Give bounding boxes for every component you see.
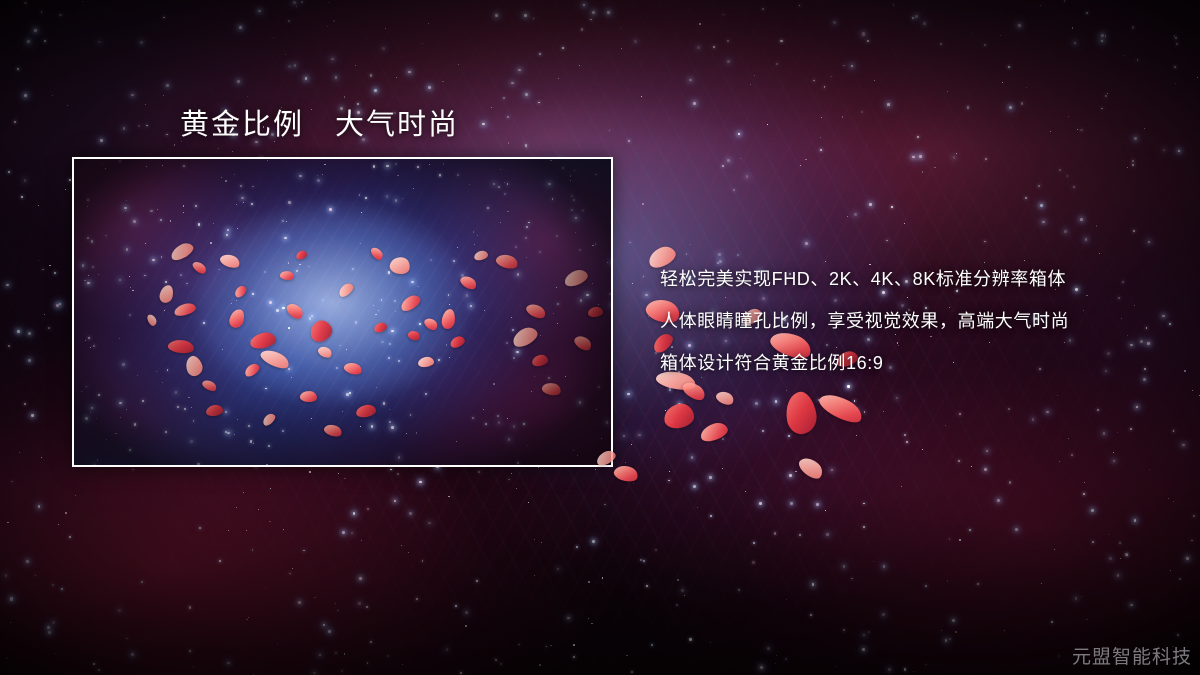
body-line-1: 轻松完美实现FHD、2K、4K、8K标准分辨率箱体	[660, 258, 1180, 300]
star-icon	[593, 466, 595, 467]
page-title: 黄金比例 大气时尚	[180, 101, 459, 143]
body-copy: 轻松完美实现FHD、2K、4K、8K标准分辨率箱体 人体眼睛瞳孔比例，享受视觉效…	[660, 258, 1180, 384]
star-icon	[611, 304, 613, 307]
watermark-logo-text: 元盟智能科技	[1072, 642, 1192, 669]
body-line-3: 箱体设计符合黄金比例16:9	[660, 342, 1180, 384]
presentation-slide: 黄金比例 大气时尚 轻松完美实现FHD、2K、4K、8K标准分辨率箱体 人体眼睛…	[0, 0, 1200, 675]
star-icon	[192, 466, 194, 467]
framed-image	[72, 157, 613, 467]
galaxy-image-vignette	[74, 159, 611, 465]
star-icon	[153, 466, 154, 467]
star-icon	[611, 261, 613, 264]
body-line-2: 人体眼睛瞳孔比例，享受视觉效果，高端大气时尚	[660, 300, 1180, 342]
